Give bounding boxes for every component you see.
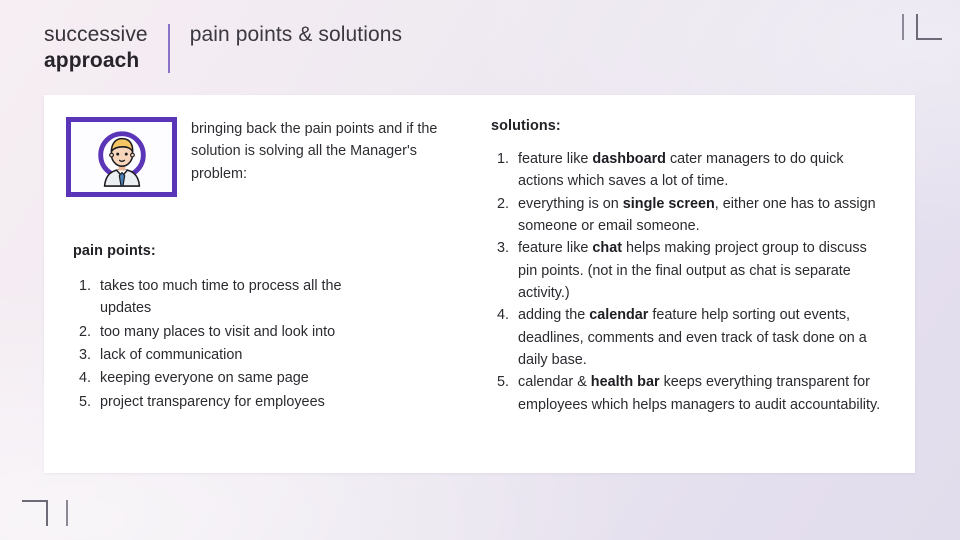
list-item: feature like dashboard cater managers to…	[513, 148, 886, 193]
header-divider	[168, 24, 170, 73]
list-item: keeping everyone on same page	[95, 367, 396, 389]
content-card: bringing back the pain points and if the…	[44, 95, 915, 473]
brand-title-line1: successive	[44, 22, 148, 48]
list-item: too many places to visit and look into	[95, 321, 396, 343]
pain-points-heading: pain points:	[73, 243, 460, 259]
avatar-frame	[66, 117, 177, 197]
body-text: feature like	[518, 240, 592, 256]
slide-header: successive approach pain points & soluti…	[44, 22, 402, 73]
brand-title: successive approach	[44, 22, 148, 73]
bottom-left-tick-icon	[66, 500, 68, 526]
pain-points-column: bringing back the pain points and if the…	[44, 95, 474, 473]
body-text: feature like	[518, 151, 592, 167]
bottom-left-corner-bracket-icon	[22, 500, 48, 526]
emphasis-text: single screen	[623, 196, 715, 212]
body-text: everything is on	[518, 196, 623, 212]
emphasis-text: calendar	[589, 307, 648, 323]
intro-row: bringing back the pain points and if the…	[66, 117, 460, 197]
page-title-text: pain points & solutions	[190, 23, 402, 46]
pain-points-list: takes too much time to process all the u…	[66, 275, 396, 413]
body-text: adding the	[518, 307, 589, 323]
brand-title-line2: approach	[44, 48, 148, 74]
emphasis-text: chat	[592, 240, 622, 256]
manager-avatar-icon	[91, 126, 153, 188]
list-item: takes too much time to process all the u…	[95, 275, 396, 320]
top-right-corner-bracket-icon	[916, 14, 942, 40]
list-item: feature like chat helps making project g…	[513, 237, 886, 304]
slide-canvas: successive approach pain points & soluti…	[0, 0, 960, 540]
top-right-tick-icon	[902, 14, 904, 40]
solutions-column: solutions: feature like dashboard cater …	[474, 95, 915, 473]
list-item: adding the calendar feature help sorting…	[513, 304, 886, 371]
intro-text: bringing back the pain points and if the…	[191, 118, 453, 185]
page-title: pain points & solutions	[190, 22, 402, 48]
emphasis-text: health bar	[591, 374, 660, 390]
list-item: lack of communication	[95, 344, 396, 366]
list-item: calendar & health bar keeps everything t…	[513, 371, 886, 416]
solutions-heading: solutions:	[491, 118, 893, 134]
emphasis-text: dashboard	[592, 151, 666, 167]
list-item: everything is on single screen, either o…	[513, 193, 886, 238]
body-text: calendar &	[518, 374, 591, 390]
list-item: project transparency for employees	[95, 391, 396, 413]
solutions-list: feature like dashboard cater managers to…	[486, 148, 886, 416]
